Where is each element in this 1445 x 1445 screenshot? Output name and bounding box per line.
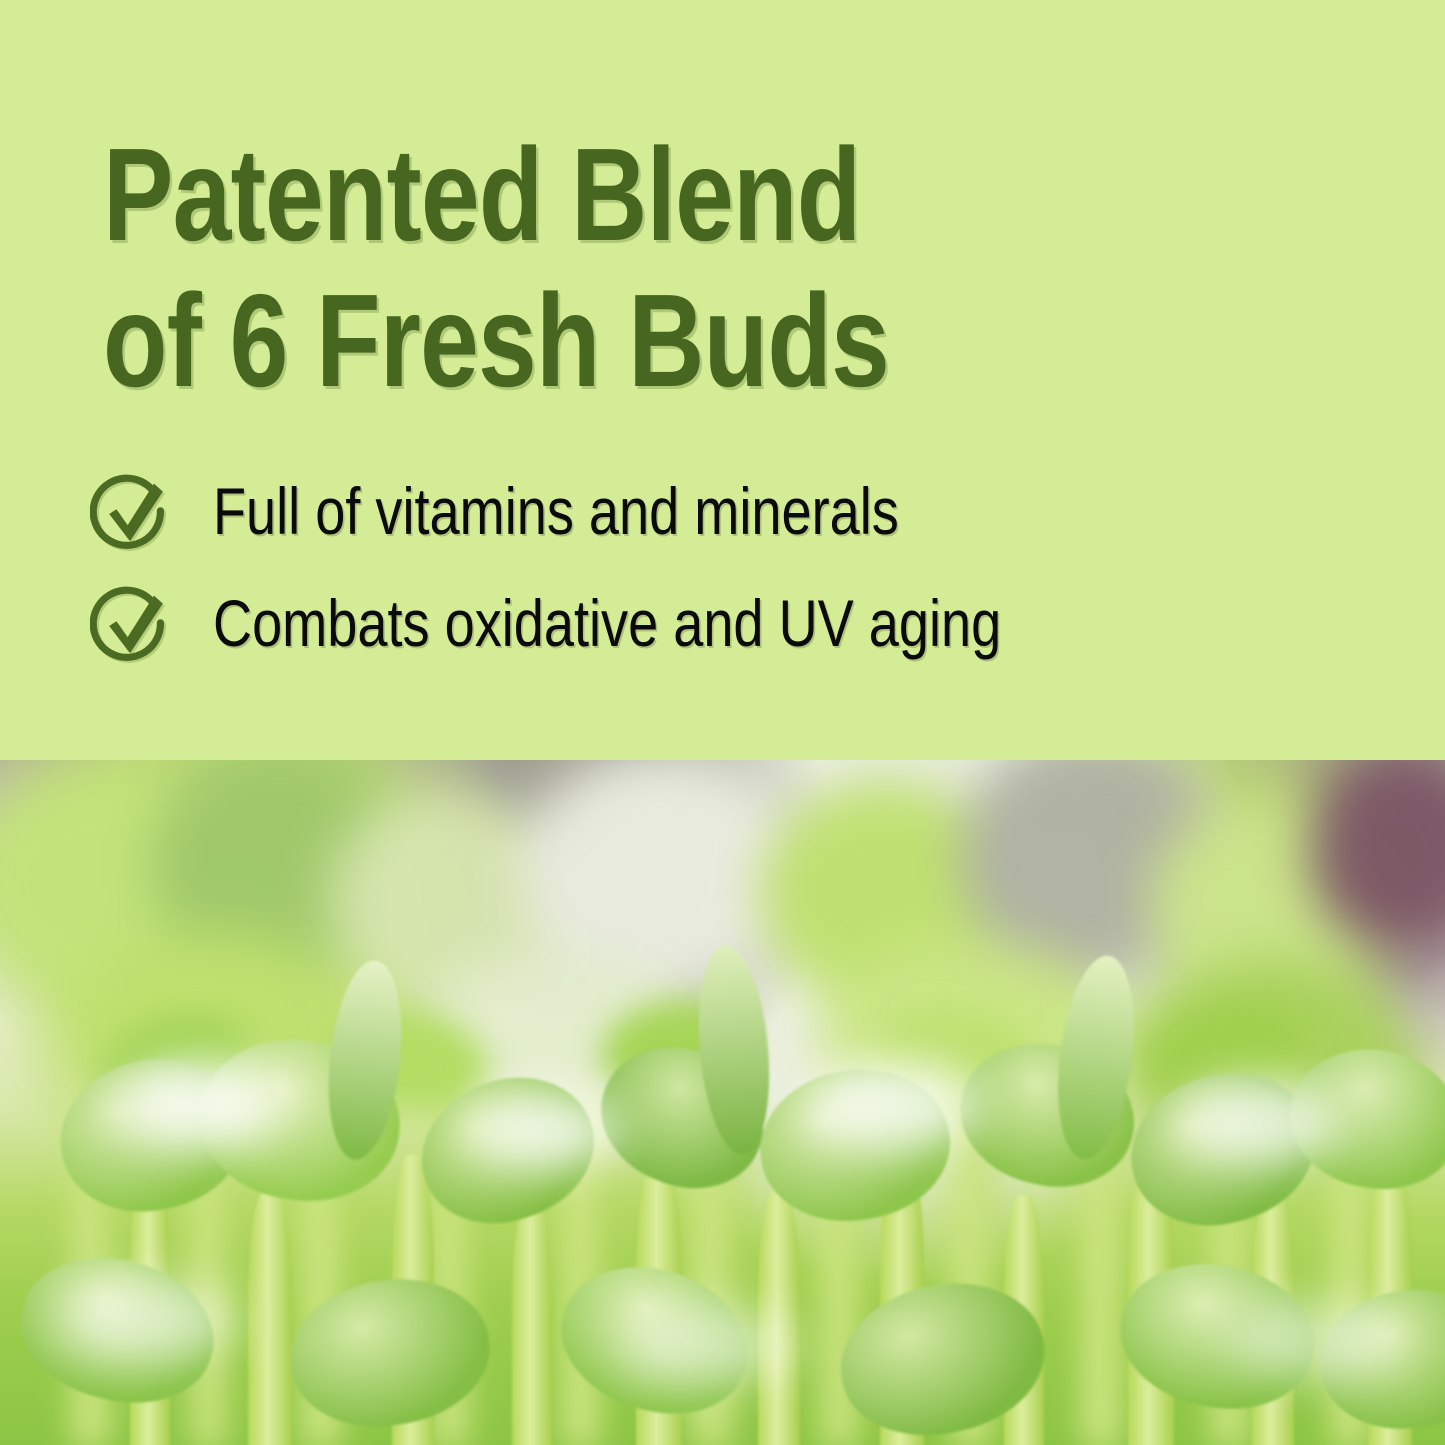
- photo-highlight-layer: [0, 760, 1445, 1445]
- list-item-label: Full of vitamins and minerals: [213, 468, 899, 554]
- check-circle-icon: [90, 586, 170, 666]
- headline-panel: Patented Blend of 6 Fresh Buds Full of v…: [0, 0, 1445, 760]
- benefits-list: Full of vitamins and minerals Combats ox…: [90, 468, 1390, 692]
- list-item: Full of vitamins and minerals: [90, 468, 1390, 580]
- page-title: Patented Blend of 6 Fresh Buds: [103, 122, 1023, 414]
- list-item: Combats oxidative and UV aging: [90, 580, 1390, 692]
- sprouts-photo: [0, 760, 1445, 1445]
- list-item-label: Combats oxidative and UV aging: [213, 580, 1001, 666]
- product-infographic-card: Patented Blend of 6 Fresh Buds Full of v…: [0, 0, 1445, 1445]
- check-circle-icon: [90, 474, 170, 554]
